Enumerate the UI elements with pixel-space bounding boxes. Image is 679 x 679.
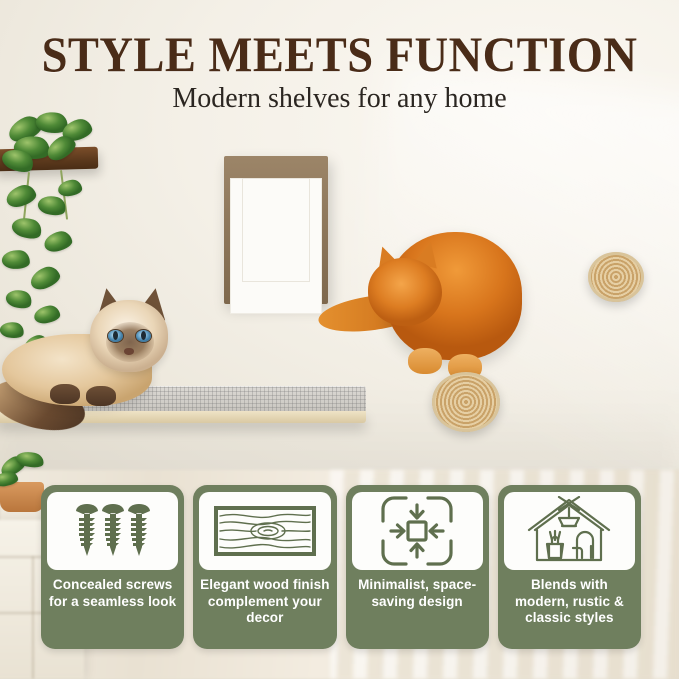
- feature-card-minimalist[interactable]: Minimalist, space-saving design: [346, 485, 489, 649]
- compress-icon: [352, 492, 483, 570]
- feature-card-label: Concealed screws for a seamless look: [47, 577, 178, 610]
- wood-grain-icon: [199, 492, 330, 570]
- feature-cards: Concealed screws for a seamless look: [41, 485, 641, 649]
- picture-frame: [224, 156, 328, 304]
- ginger-cat-head: [368, 258, 442, 326]
- house-interior-icon: [504, 492, 635, 570]
- page-subtitle: Modern shelves for any home: [0, 83, 679, 115]
- feature-card-blends-styles[interactable]: Blends with modern, rustic & classic sty…: [498, 485, 641, 649]
- feature-card-concealed-screws[interactable]: Concealed screws for a seamless look: [41, 485, 184, 649]
- screws-icon: [47, 492, 178, 570]
- feature-card-label: Elegant wood finish complement your deco…: [199, 577, 330, 627]
- sisal-step-lower: [432, 372, 500, 432]
- feature-card-wood-finish[interactable]: Elegant wood finish complement your deco…: [193, 485, 336, 649]
- feature-card-label: Blends with modern, rustic & classic sty…: [504, 577, 635, 627]
- sisal-step-upper-right: [588, 252, 644, 302]
- feature-card-label: Minimalist, space-saving design: [352, 577, 483, 610]
- product-marketing-image: STYLE MEETS FUNCTION Modern shelves for …: [0, 0, 679, 679]
- siamese-cat: [0, 286, 204, 461]
- page-title: STYLE MEETS FUNCTION: [24, 28, 655, 80]
